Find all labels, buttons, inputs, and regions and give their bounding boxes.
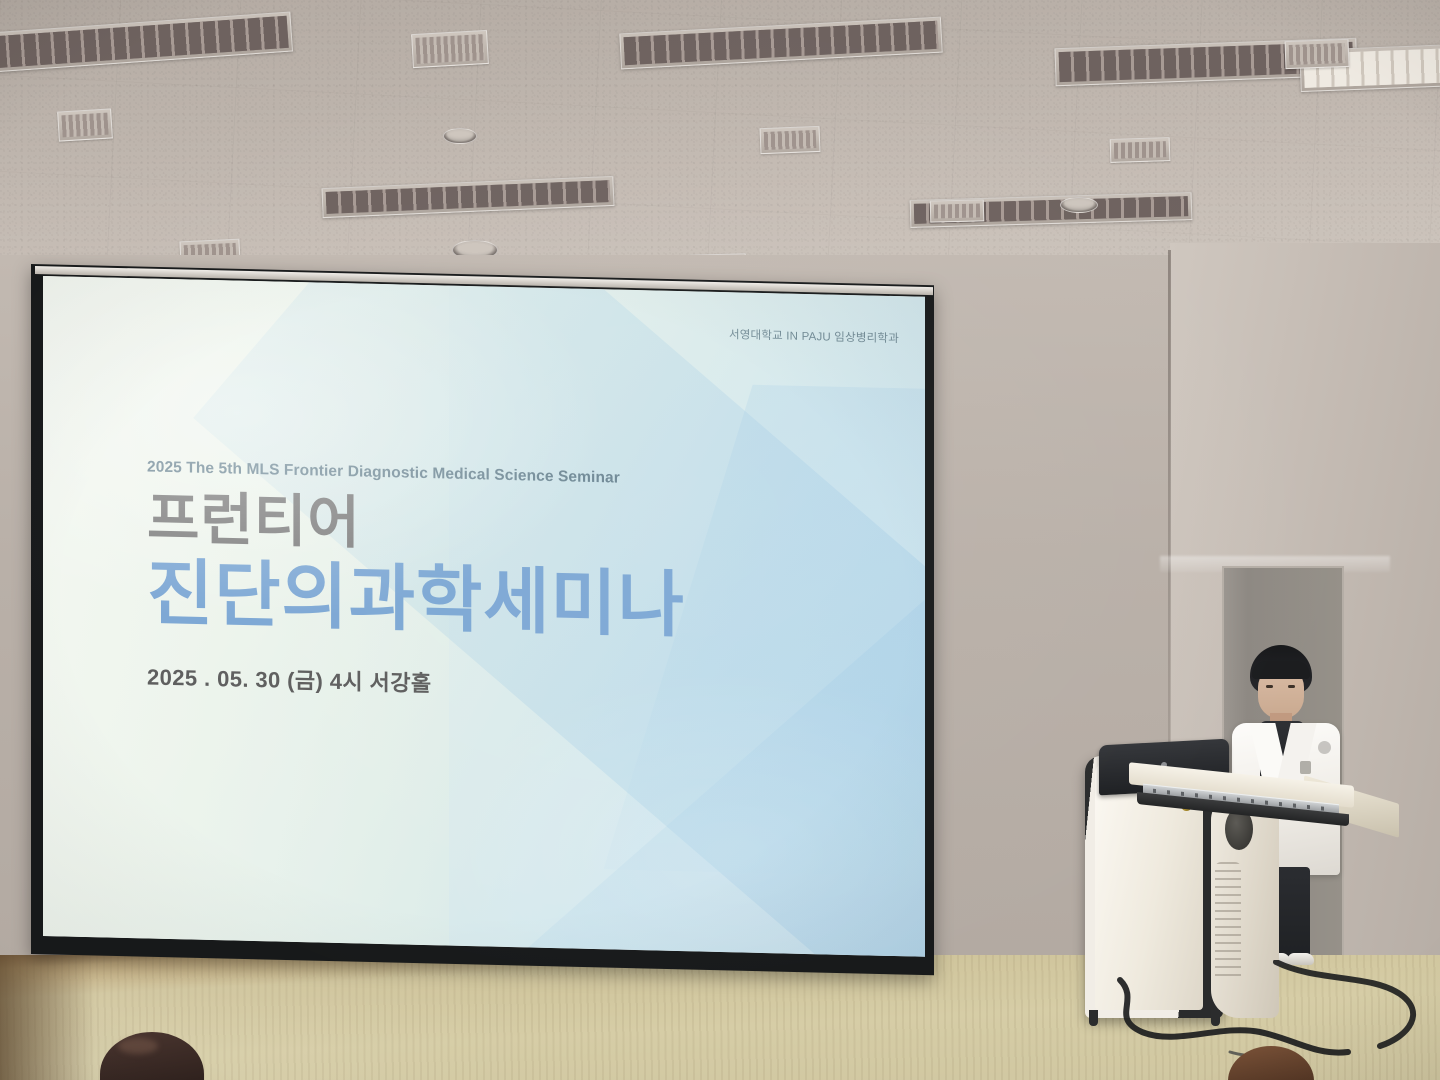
- presenter-id-badge: [1300, 761, 1311, 774]
- ceiling-square-light-6-grille: [1289, 43, 1346, 65]
- ceiling-square-light-8: [930, 199, 985, 222]
- ceiling-square-light-8-grille: [934, 203, 980, 218]
- ceiling-square-light-5: [1110, 137, 1171, 163]
- seminar-room-photo: 서영대학교 IN PAJU 임상병리학과 2025 The 5th MLS Fr…: [0, 0, 1440, 1080]
- ceiling-square-light-4-grille: [764, 130, 817, 150]
- ceiling-square-light-5-grille: [1114, 141, 1166, 159]
- floor-shadow-left: [0, 955, 95, 1080]
- presenter-shoulder-emblem: [1318, 741, 1331, 754]
- ceiling-speaker-3: [1060, 197, 1098, 213]
- ceiling-square-light-2-grille: [415, 34, 484, 64]
- slide-title-block: 2025 The 5th MLS Frontier Diagnostic Med…: [147, 458, 685, 704]
- ceiling-square-light-2: [411, 30, 489, 68]
- presenter-eye-left: [1266, 685, 1273, 688]
- ceiling-square-light-4: [760, 126, 821, 154]
- ceiling-square-light-1: [57, 108, 113, 141]
- presenter-eye-right: [1288, 685, 1295, 688]
- wall-corner-edge: [1168, 250, 1171, 810]
- projection-screen-surface: 서영대학교 IN PAJU 임상병리학과 2025 The 5th MLS Fr…: [43, 276, 925, 957]
- slide-title-line-1: 프런티어: [147, 490, 685, 560]
- ceiling-square-light-6: [1285, 39, 1350, 69]
- ceiling-speaker-1: [443, 128, 477, 144]
- slide-title-line-2: 진단의과학세미나: [147, 557, 685, 642]
- ceiling-square-light-1-grille: [61, 113, 108, 138]
- presenter-fringe: [1252, 661, 1310, 679]
